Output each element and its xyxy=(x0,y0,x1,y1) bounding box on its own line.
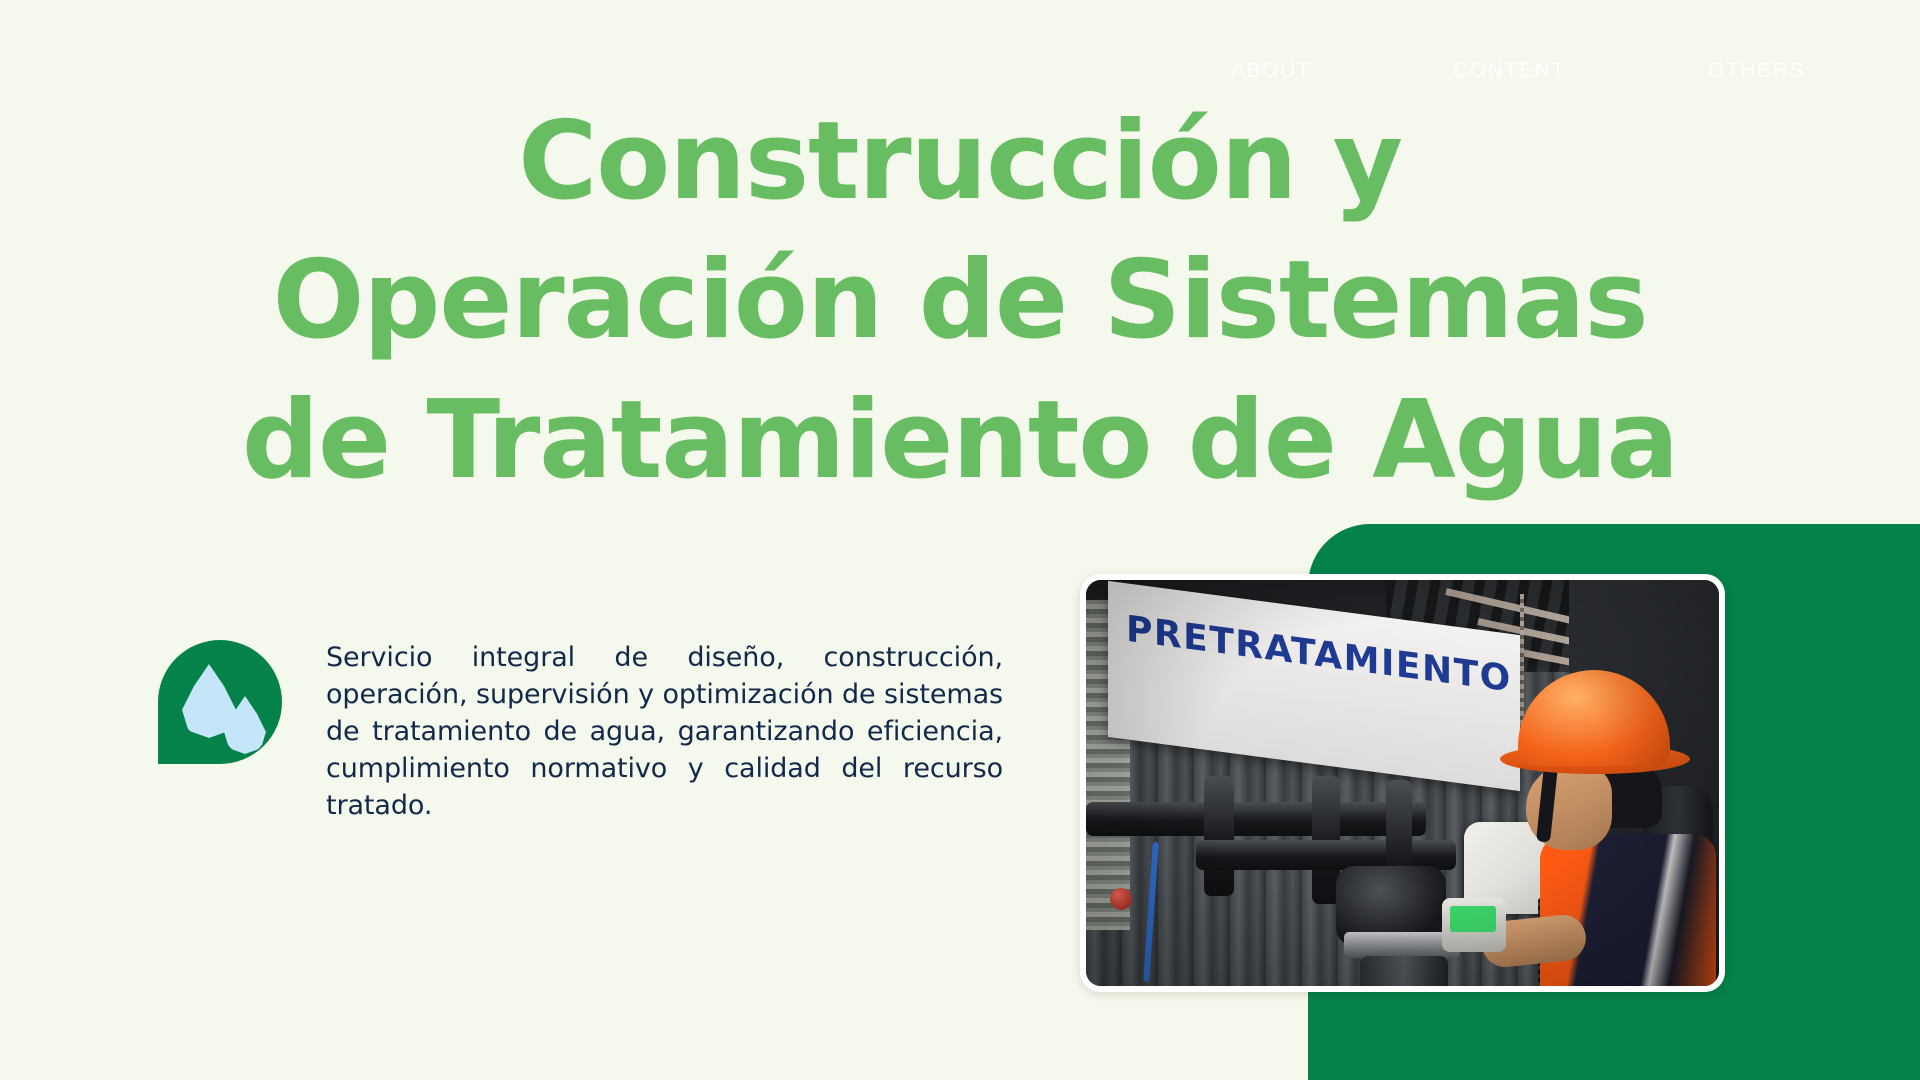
water-drops-icon xyxy=(158,640,282,764)
page-title: Construcción y Operación de Sistemas de … xyxy=(0,92,1920,510)
photo-worker-vest xyxy=(1540,834,1716,986)
page-title-line-2: Operación de Sistemas xyxy=(0,231,1920,370)
page-title-line-1: Construcción y xyxy=(0,92,1920,231)
pretreatment-photo: PRETRATAMIENTO xyxy=(1086,580,1719,986)
info-block: Servicio integral de diseño, construcció… xyxy=(158,640,1003,825)
photo-pipe xyxy=(1204,776,1234,896)
photo-card: PRETRATAMIENTO xyxy=(1080,574,1725,992)
page-title-line-3: de Tratamiento de Agua xyxy=(0,371,1920,510)
description-paragraph: Servicio integral de diseño, construcció… xyxy=(326,640,1003,825)
photo-vessel xyxy=(1360,956,1448,986)
photo-pipe xyxy=(1086,802,1426,836)
nav-item-about[interactable]: ABOUT xyxy=(1231,60,1311,81)
photo-red-knob xyxy=(1110,888,1132,910)
nav-item-content[interactable]: CONTENT xyxy=(1453,60,1566,81)
slide-canvas: ABOUT CONTENT OTHERS Construcción y Oper… xyxy=(0,0,1920,1080)
photo-worker-helmet xyxy=(1518,670,1670,766)
photo-handheld-meter xyxy=(1442,898,1506,952)
photo-worker xyxy=(1482,666,1719,986)
top-navigation: ABOUT CONTENT OTHERS xyxy=(0,50,1920,90)
nav-item-others[interactable]: OTHERS xyxy=(1708,60,1805,81)
